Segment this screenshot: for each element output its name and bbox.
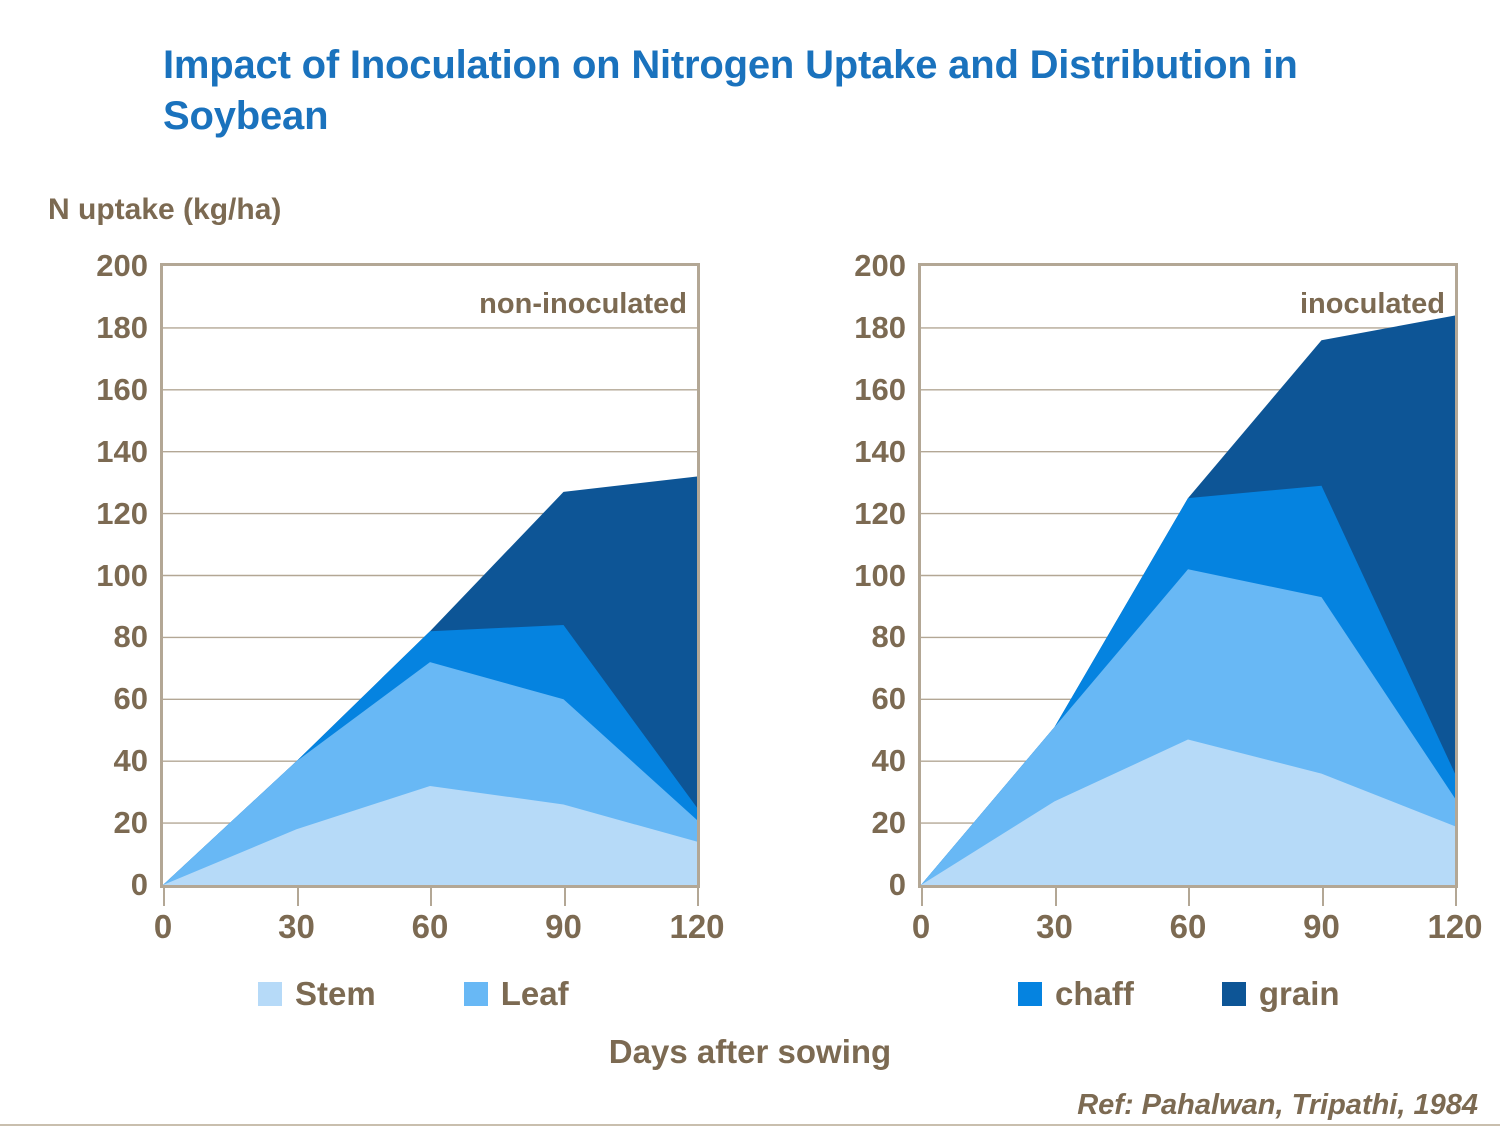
y-tick-label: 20 [872,805,906,841]
y-tick-label: 100 [96,558,148,594]
x-tick-label: 60 [412,908,449,946]
area-chart-non-inoculated [163,266,697,885]
y-tick-label: 0 [131,867,148,903]
legend-label-grain: grain [1259,975,1340,1013]
y-tick-label: 180 [854,310,906,346]
y-tick-label: 140 [96,434,148,470]
y-tick-label: 40 [114,743,148,779]
page-title: Impact of Inoculation on Nitrogen Uptake… [163,40,1343,142]
legend-item-grain[interactable]: grain [1222,975,1340,1013]
y-tick-label: 0 [889,867,906,903]
y-tick-label: 120 [854,496,906,532]
x-tick-mark [1055,888,1057,906]
x-tick-label: 0 [154,908,172,946]
x-tick-label: 30 [278,908,315,946]
x-tick-label: 60 [1170,908,1207,946]
legend-item-chaff[interactable]: chaff [1018,975,1134,1013]
x-axis-ticks-left [160,888,700,906]
plot-area-inoculated: inoculated [918,263,1458,888]
y-tick-label: 40 [872,743,906,779]
y-tick-label: 160 [96,372,148,408]
y-tick-label: 200 [96,248,148,284]
legend-item-stem[interactable]: Stem [258,975,376,1013]
x-tick-mark [1322,888,1324,906]
reference-note: Ref: Pahalwan, Tripathi, 1984 [1077,1089,1478,1122]
x-tick-mark [1188,888,1190,906]
x-tick-mark [430,888,432,906]
y-tick-label: 60 [872,681,906,717]
x-axis-ticks-right [918,888,1458,906]
x-tick-mark [564,888,566,906]
y-tick-label: 100 [854,558,906,594]
y-tick-label: 180 [96,310,148,346]
x-tick-label: 0 [912,908,930,946]
legend-swatch-leaf [464,982,488,1006]
x-tick-label: 90 [545,908,582,946]
x-tick-label: 120 [669,908,724,946]
x-axis-tick-labels-left: 0306090120 [160,908,700,950]
y-axis-tick-labels-left: 020406080100120140160180200 [60,250,148,890]
legend-group-left: Stem Leaf [258,975,569,1013]
x-tick-label: 90 [1303,908,1340,946]
legend-swatch-grain [1222,982,1246,1006]
x-tick-mark [697,888,699,906]
panel-tag-non-inoculated: non-inoculated [479,288,687,321]
x-axis-tick-labels-right: 0306090120 [918,908,1458,950]
y-tick-label: 80 [872,619,906,655]
x-tick-mark [1455,888,1457,906]
y-tick-label: 20 [114,805,148,841]
y-tick-label: 140 [854,434,906,470]
legend-label-chaff: chaff [1055,975,1134,1013]
legend-item-leaf[interactable]: Leaf [464,975,569,1013]
legend-swatch-chaff [1018,982,1042,1006]
slide-root: Impact of Inoculation on Nitrogen Uptake… [0,0,1500,1126]
legend-label-leaf: Leaf [501,975,569,1013]
y-tick-label: 60 [114,681,148,717]
x-tick-mark [297,888,299,906]
y-tick-label: 200 [854,248,906,284]
x-tick-mark [921,888,923,906]
x-tick-label: 120 [1427,908,1482,946]
x-tick-mark [163,888,165,906]
x-tick-label: 30 [1036,908,1073,946]
y-axis-title: N uptake (kg/ha) [48,193,281,227]
x-axis-title: Days after sowing [0,1033,1500,1071]
legend-group-right: chaff grain [1018,975,1340,1013]
panel-tag-inoculated: inoculated [1300,288,1445,321]
legend-label-stem: Stem [295,975,376,1013]
y-axis-tick-labels-right: 020406080100120140160180200 [818,250,906,890]
y-tick-label: 80 [114,619,148,655]
plot-area-non-inoculated: non-inoculated [160,263,700,888]
y-tick-label: 160 [854,372,906,408]
legend-swatch-stem [258,982,282,1006]
y-tick-label: 120 [96,496,148,532]
area-chart-inoculated [921,266,1455,885]
